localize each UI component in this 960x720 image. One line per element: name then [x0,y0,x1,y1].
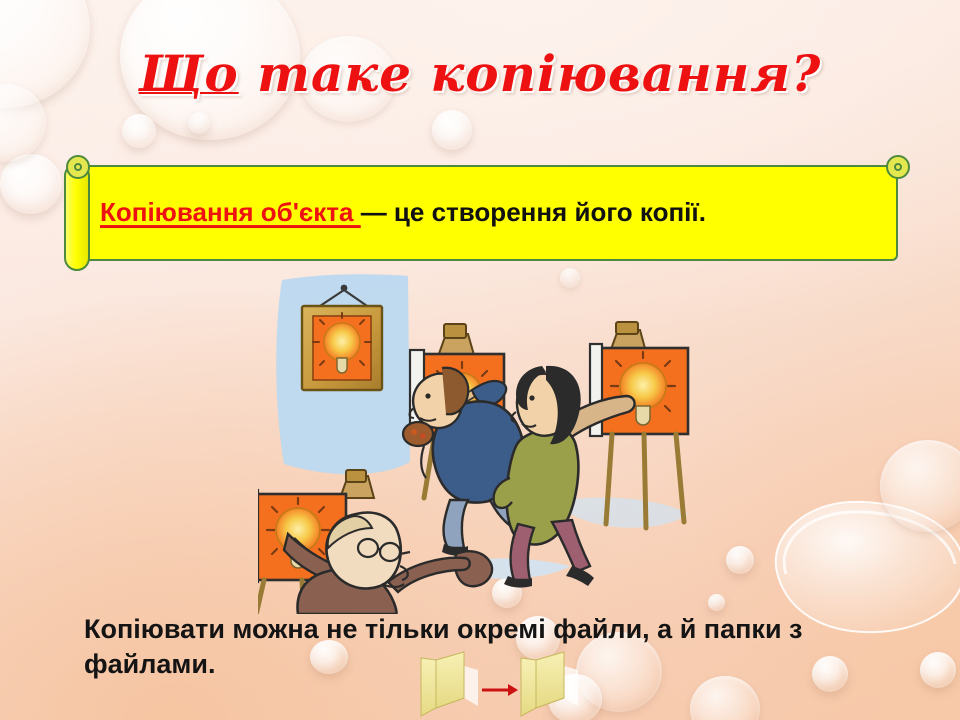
folder-icon [521,652,578,716]
bubble-decor [880,440,960,532]
bubble-decor [122,114,156,148]
callout-definition: — це створення його копії. [361,197,706,227]
callout-text: Копіювання об'єкта — це створення його к… [100,198,878,228]
artists-copying-painting-illustration [258,266,710,614]
bubble-decor [708,594,725,611]
page-title-rest: таке копіювання? [239,44,822,103]
bubble-decor [920,652,956,688]
scroll-roll-left [64,163,90,271]
easel-right [590,322,688,528]
bubble-decor [690,676,760,720]
page-title-lead: Що [139,44,239,103]
slide-canvas: Що таке копіювання? Копіювання об'єкта —… [0,0,960,720]
arrow-right-icon [482,684,518,696]
callout-body: Копіювання об'єкта — це створення його к… [76,165,898,261]
bubble-decor [726,546,754,574]
page-title: Що таке копіювання? [0,44,960,103]
scroll-curl-right-icon [886,155,910,179]
scroll-curl-left-icon [66,155,90,179]
folder-copy-illustration [420,648,580,720]
definition-callout: Копіювання об'єкта — це створення його к… [62,165,898,261]
callout-term: Копіювання об'єкта [100,197,361,227]
bubble-decor [432,110,472,150]
painter-woman [494,366,635,588]
bubble-decor [188,112,210,134]
folder-icon [421,652,478,716]
bubble-decor [0,154,62,214]
